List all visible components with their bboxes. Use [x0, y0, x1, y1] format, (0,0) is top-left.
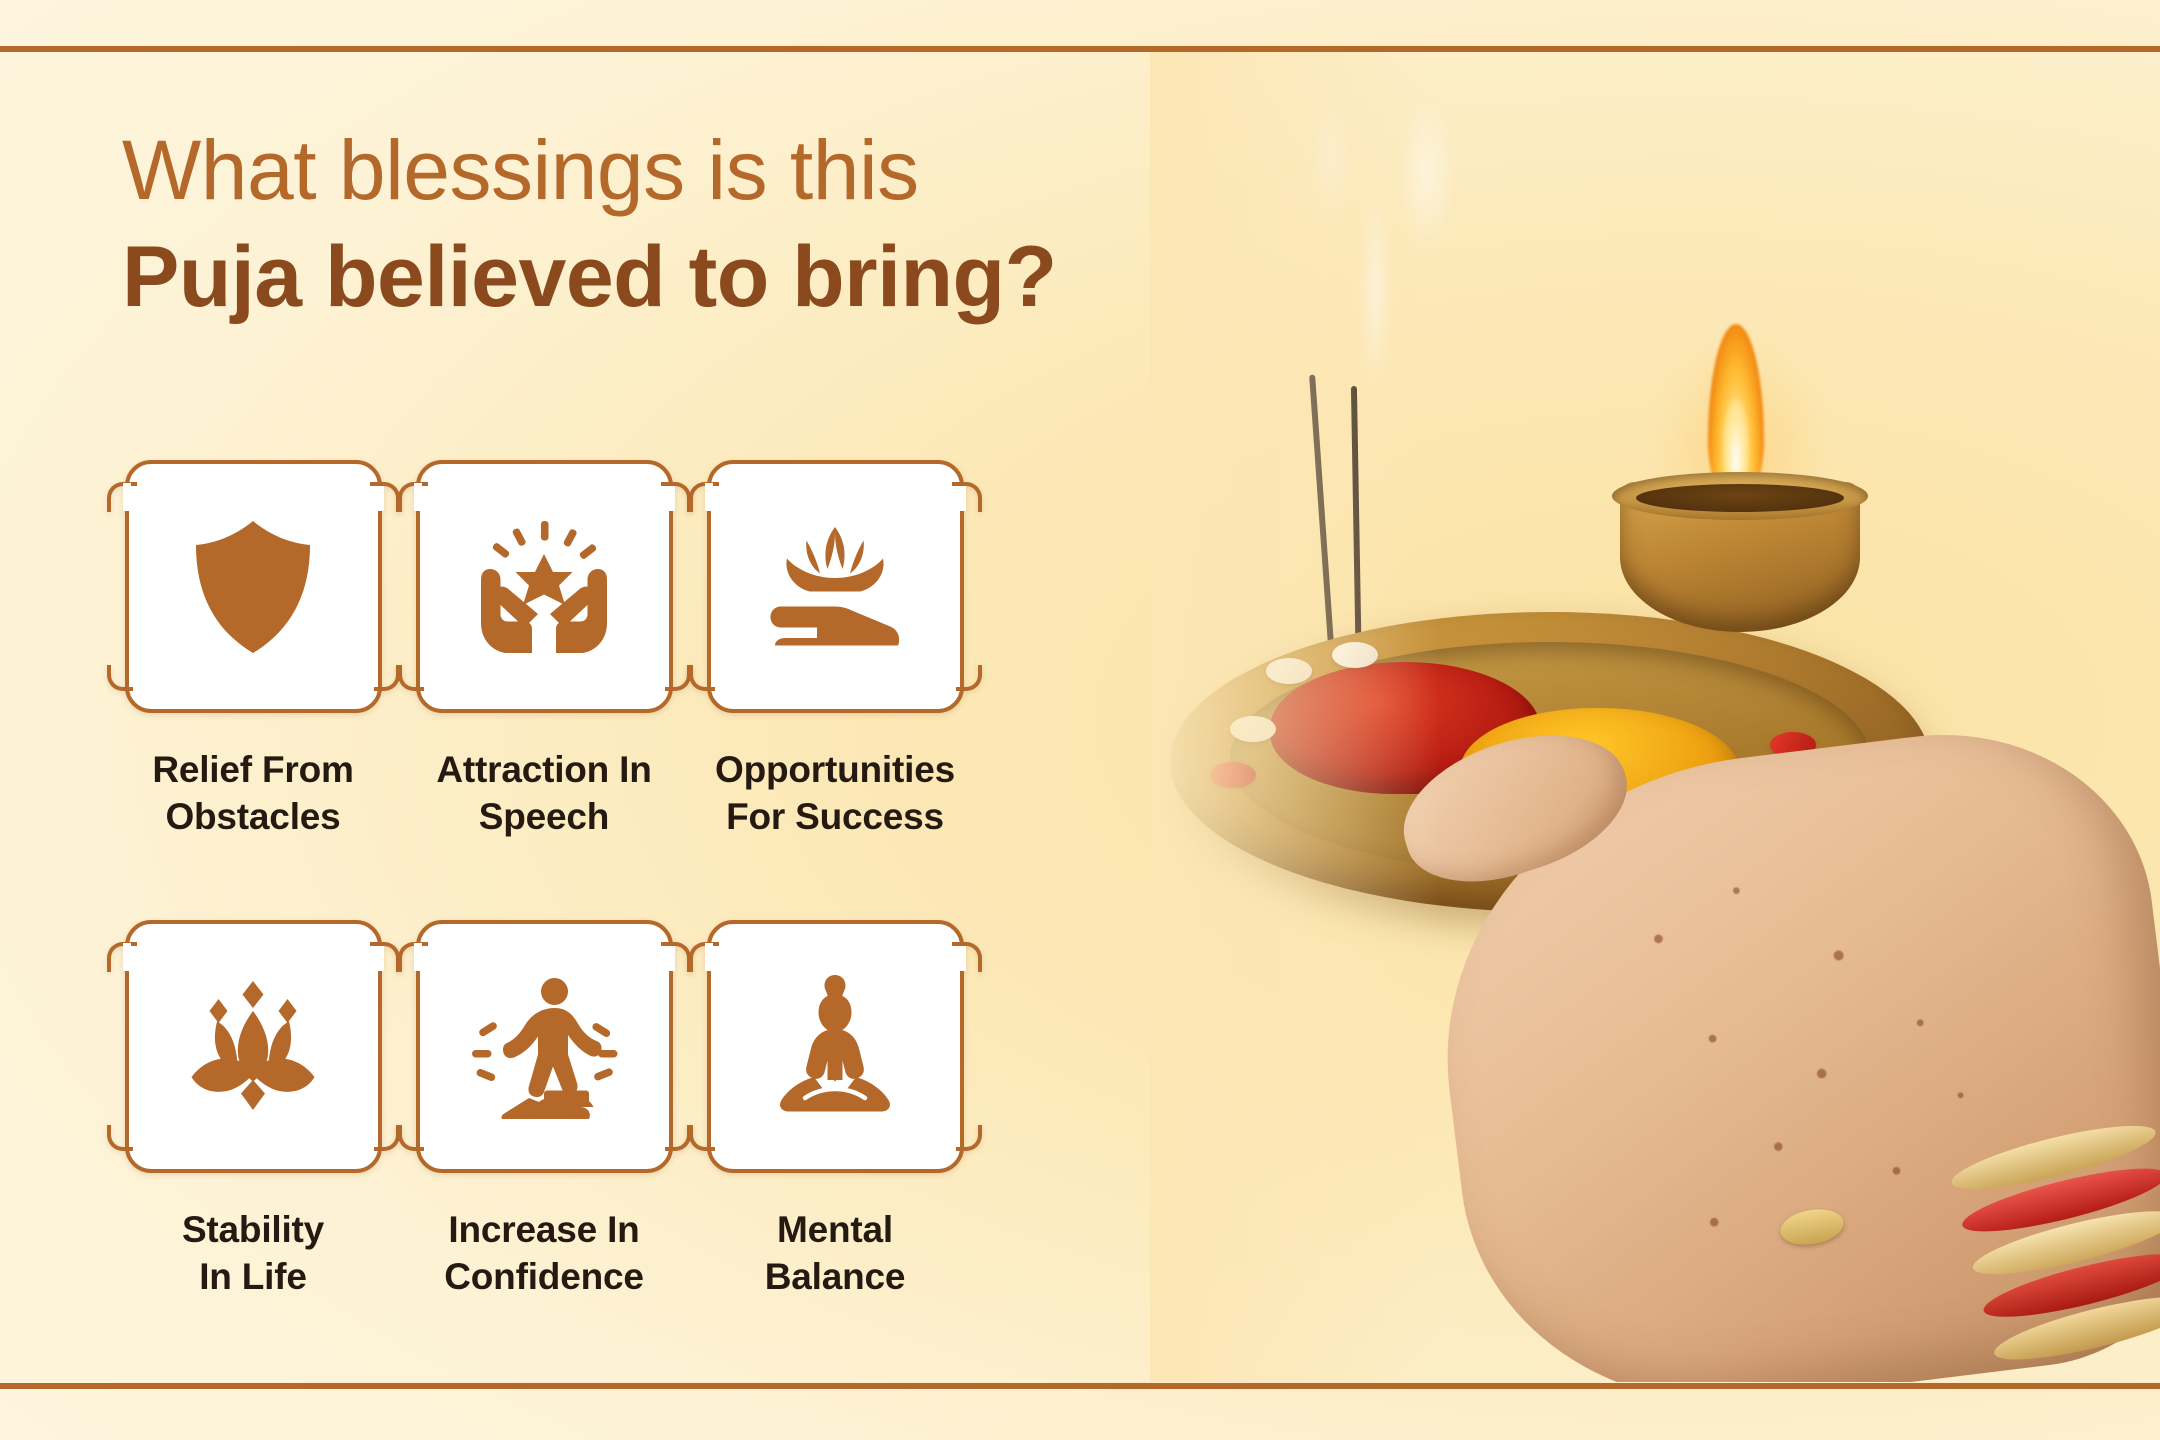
frame-mask [667, 943, 675, 971]
benefit-label: Stability In Life [112, 1207, 394, 1301]
meditation-icon [760, 972, 910, 1122]
benefit-item-stability-in-life[interactable]: Stability In Life [112, 920, 394, 1380]
title-line-1: What blessings is this [122, 128, 1422, 212]
frame-corner-bottom-right [956, 665, 982, 691]
frame-corner-bottom-left [398, 665, 424, 691]
benefit-icon-card [707, 920, 964, 1173]
frame-corner-bottom-left [398, 1125, 424, 1151]
frame-corner-bottom-left [107, 665, 133, 691]
frame-corner-bottom-right [665, 1125, 691, 1151]
benefit-label-line-2: Obstacles [165, 796, 340, 837]
benefit-label: Attraction In Speech [403, 747, 685, 841]
frame-mask [376, 483, 384, 511]
flower-petal [1230, 716, 1276, 742]
frame-corner-bottom-right [956, 1125, 982, 1151]
bottom-divider-rule [0, 1383, 2160, 1389]
benefit-icon-card [707, 460, 964, 713]
flower-petal [1332, 642, 1378, 668]
benefit-label: Opportunities For Success [694, 747, 976, 841]
benefit-label-line-1: Attraction In [436, 749, 651, 790]
benefit-item-opportunities-for-success[interactable]: Opportunities For Success [694, 460, 976, 920]
frame-mask [123, 943, 131, 971]
confident-person-icon [469, 972, 619, 1122]
frame-mask [414, 483, 422, 511]
poster-canvas: What blessings is this Puja believed to … [0, 0, 2160, 1440]
benefit-label-line-2: Balance [765, 1256, 906, 1297]
benefit-label-line-2: For Success [726, 796, 944, 837]
title-line-2: Puja believed to bring? [122, 232, 1422, 322]
frame-mask [958, 943, 966, 971]
flower-petal [1266, 658, 1312, 684]
frame-mask [705, 943, 713, 971]
benefit-label-line-1: Stability [182, 1209, 324, 1250]
benefit-icon-card [125, 920, 382, 1173]
frame-corner-bottom-right [374, 1125, 400, 1151]
benefit-label-line-1: Relief From [152, 749, 353, 790]
frame-mask [414, 943, 422, 971]
frame-mask [705, 483, 713, 511]
frame-corner-bottom-right [665, 665, 691, 691]
frame-corner-bottom-left [107, 1125, 133, 1151]
shield-icon [178, 512, 328, 662]
benefit-label: Relief From Obstacles [112, 747, 394, 841]
frame-mask [667, 483, 675, 511]
benefits-grid: Relief From Obstacles [112, 460, 976, 1380]
benefit-label: Increase In Confidence [403, 1207, 685, 1301]
benefit-label: Mental Balance [694, 1207, 976, 1301]
benefit-item-increase-in-confidence[interactable]: Increase In Confidence [403, 920, 685, 1380]
benefit-label-line-2: Speech [479, 796, 609, 837]
benefit-label-line-2: Confidence [444, 1256, 643, 1297]
benefit-icon-card [416, 460, 673, 713]
benefit-label-line-1: Opportunities [715, 749, 955, 790]
hand-lotus-icon [760, 512, 910, 662]
benefit-label-line-1: Increase In [448, 1209, 639, 1250]
frame-corner-bottom-right [374, 665, 400, 691]
frame-corner-bottom-left [689, 665, 715, 691]
benefit-label-line-1: Mental [777, 1209, 893, 1250]
frame-corner-bottom-left [689, 1125, 715, 1151]
benefit-label-line-2: In Life [199, 1256, 307, 1297]
lotus-icon [178, 972, 328, 1122]
frame-mask [376, 943, 384, 971]
diya-oil [1636, 484, 1844, 512]
frame-mask [123, 483, 131, 511]
benefit-icon-card [125, 460, 382, 713]
benefit-item-relief-from-obstacles[interactable]: Relief From Obstacles [112, 460, 394, 920]
frame-mask [958, 483, 966, 511]
flower-petal [1210, 762, 1256, 788]
benefit-item-mental-balance[interactable]: Mental Balance [694, 920, 976, 1380]
benefit-item-attraction-in-speech[interactable]: Attraction In Speech [403, 460, 685, 920]
benefit-icon-card [416, 920, 673, 1173]
hands-star-icon [469, 512, 619, 662]
page-title: What blessings is this Puja believed to … [122, 128, 1422, 322]
